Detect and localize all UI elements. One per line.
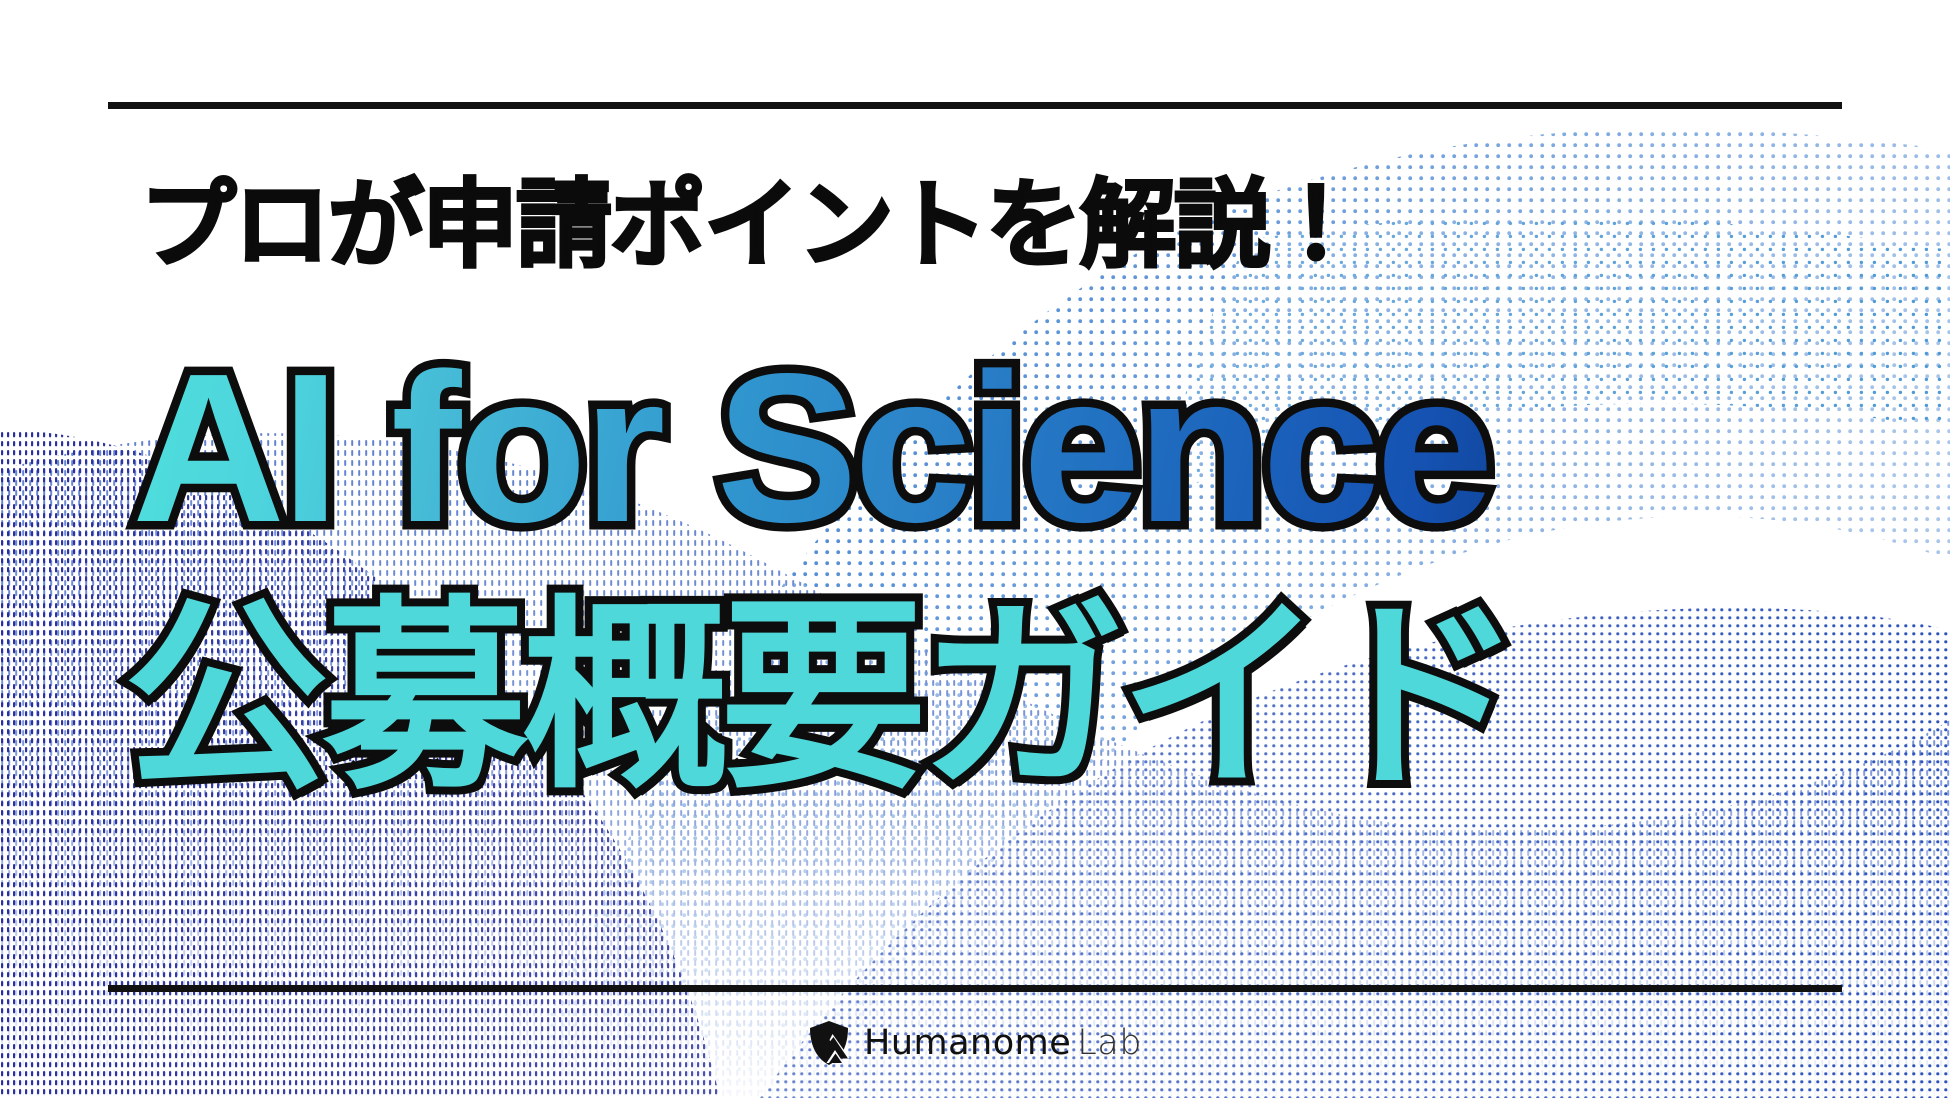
brand-name: Humanome [864, 1023, 1071, 1063]
headline-english: AI for Science AI for Science [132, 350, 1490, 545]
brand-suffix: Lab [1077, 1023, 1142, 1063]
headline-japanese-fill: 公募概要ガイド [124, 604, 1517, 793]
bottom-divider-rule [108, 985, 1842, 992]
top-divider-rule [108, 102, 1842, 109]
headline-japanese: 公募概要ガイド 公募概要ガイド [124, 604, 1517, 793]
brand-logo-lockup: HumanomeLab [0, 1020, 1950, 1066]
subtitle-text: プロが申請ポイントを解説！ [140, 178, 1362, 274]
humanome-shield-icon [808, 1020, 850, 1066]
brand-wordmark: HumanomeLab [864, 1023, 1142, 1063]
poster-canvas: プロが申請ポイントを解説！ AI for Science AI for Scie… [0, 0, 1950, 1098]
headline-english-fill: AI for Science [132, 350, 1490, 545]
